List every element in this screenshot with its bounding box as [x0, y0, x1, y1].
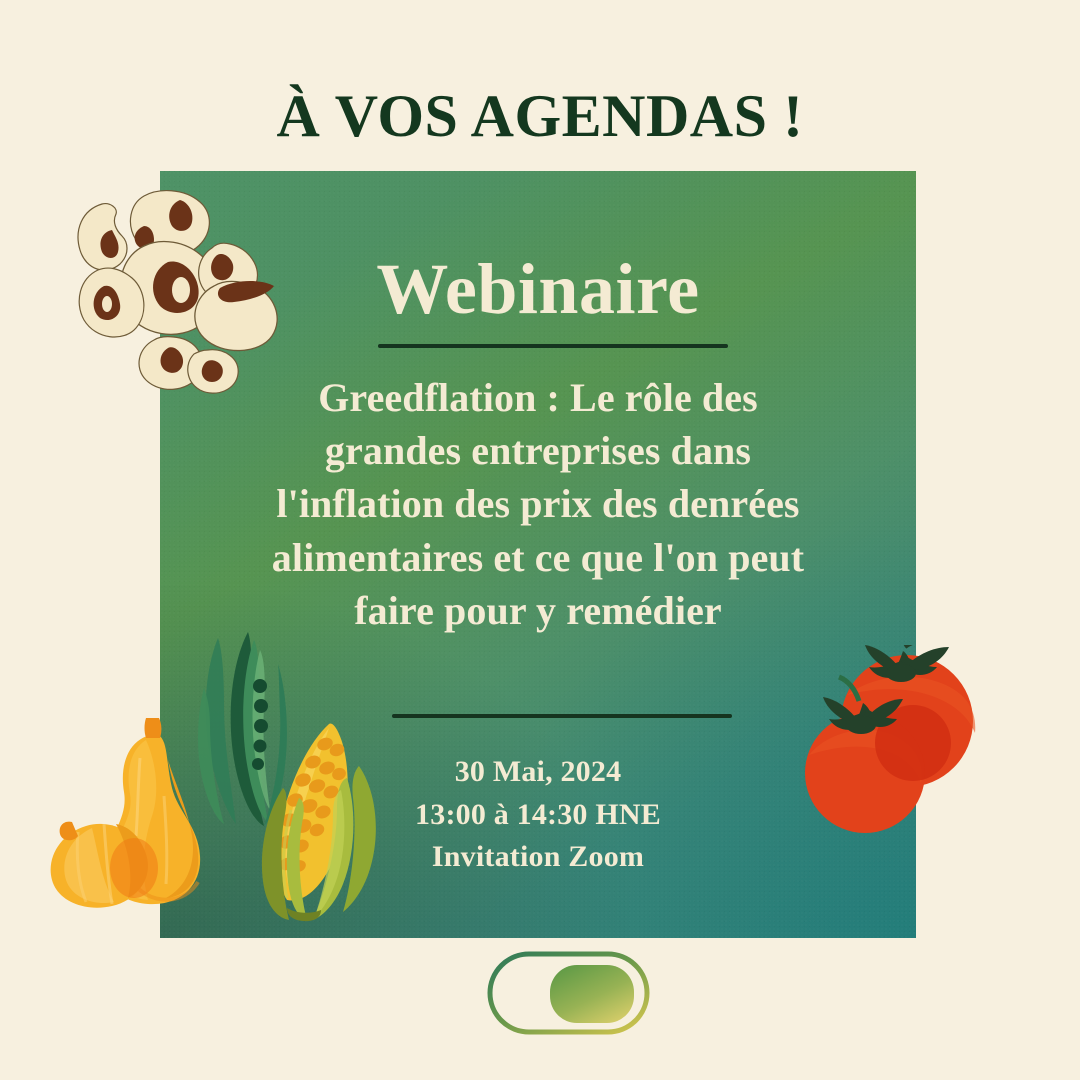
divider-top [378, 344, 728, 348]
tomatoes-illustration [785, 645, 1000, 860]
brand-logo [487, 951, 650, 1035]
corn-cob-illustration [243, 718, 388, 923]
page-title: À VOS AGENDAS ! [0, 82, 1080, 151]
subject-line-4: alimentaires et ce que l'on peut [182, 531, 894, 584]
subject-line-3: l'inflation des prix des denrées [182, 477, 894, 530]
poster-canvas: À VOS AGENDAS ! Webinaire Greedflation :… [0, 0, 1080, 1080]
sliced-mushrooms-illustration [72, 182, 322, 412]
subject-line-2: grandes entreprises dans [182, 424, 894, 477]
divider-bottom [392, 714, 732, 718]
